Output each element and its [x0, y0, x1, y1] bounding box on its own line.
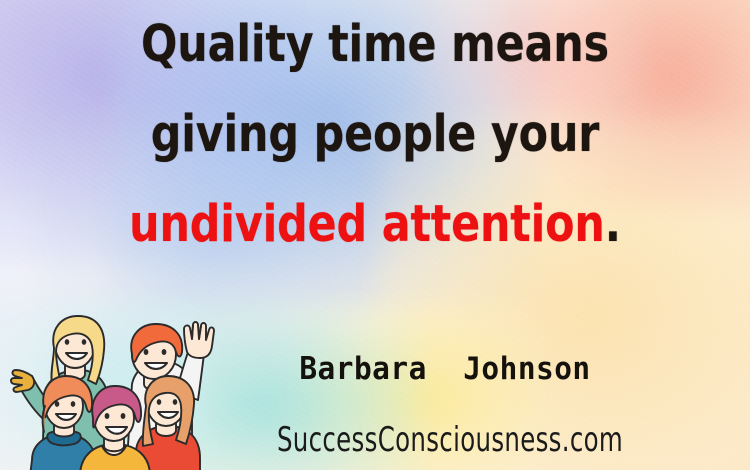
quote-text-block: Quality time means giving people your un…	[0, 22, 750, 248]
quote-period: .	[605, 195, 621, 254]
group-of-people-svg	[8, 308, 216, 470]
website-url: SuccessConsciousness.com	[274, 421, 626, 459]
quote-highlight-words: undivided attention	[129, 195, 605, 254]
quote-card: Quality time means giving people your un…	[0, 0, 750, 470]
quote-author: Barbara Johnson	[246, 352, 645, 386]
quote-line-3-highlighted: undivided attention.	[60, 202, 690, 248]
quote-line-1: Quality time means	[60, 22, 690, 68]
group-of-people-illustration	[8, 308, 216, 470]
quote-line-2: giving people your	[60, 112, 690, 158]
